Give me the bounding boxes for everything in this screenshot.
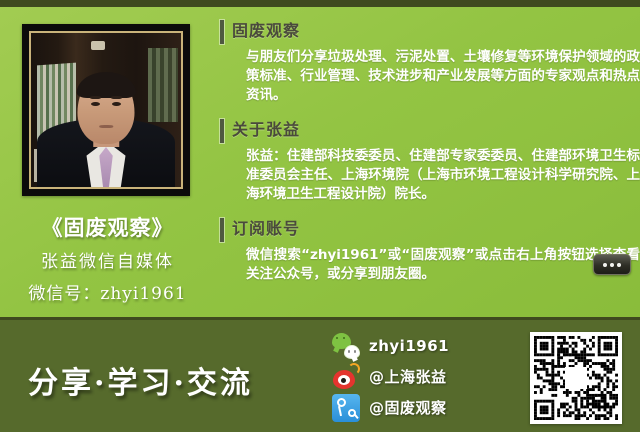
section-subscribe: 订阅账号 微信搜索“zhyi1961”或“固废观察”或点击右上角按钮选择查看关注… [218,219,640,284]
section-heading: 关于张益 [218,120,640,140]
section-heading: 订阅账号 [218,219,640,239]
dot-icon [617,263,621,267]
section-heading-text: 关于张益 [232,120,300,139]
wechat-qr-code[interactable] [530,332,622,424]
slogan-text: 分享·学习·交流 [28,358,253,402]
poster-root: 《固废观察》 张益微信自媒体 微信号：zhyi1961 固废观察 与朋友们分享垃… [0,0,640,432]
brand-wechat-id: 微信号：zhyi1961 [0,279,215,304]
person-eyebrow-left [90,96,101,98]
brand-subtitle: 张益微信自媒体 [0,247,215,272]
social-accounts-list: zhyi1961 @上海张益 @固废观察 [332,330,502,423]
section-body-text: 与朋友们分享垃圾处理、污泥处置、土壤修复等环境保护领域的政策标准、行业管理、技术… [218,48,640,105]
section-heading: 固废观察 [218,21,640,41]
section-guhuaguancha: 固废观察 与朋友们分享垃圾处理、污泥处置、土壤修复等环境保护领域的政策标准、行业… [218,21,640,105]
section-heading-text: 固废观察 [232,21,300,40]
dot-icon [603,263,607,267]
section-heading-text: 订阅账号 [232,219,300,238]
section-body-text: 微信搜索“zhyi1961”或“固废观察”或点击右上角按钮选择查看关注公众号，或… [218,246,640,284]
brand-title: 《固废观察》 [0,212,215,242]
top-divider [0,0,640,7]
social-label: @上海张益 [369,366,447,387]
bottom-bar: 分享·学习·交流 zhyi1961 @上海张益 [0,317,640,432]
ceiling-light [91,41,105,50]
section-marker-bar [220,218,224,242]
bookshelf-right [148,48,178,122]
portrait-photo [29,31,183,189]
social-label: zhyi1961 [369,337,449,355]
section-marker-bar [220,20,224,44]
section-body-text: 张益：住建部科技委委员、住建部专家委委员、住建部环境卫生标准委员会主任、上海环境… [218,147,640,204]
social-label: @固废观察 [369,397,447,418]
right-column: 固废观察 与朋友们分享垃圾处理、污泥处置、土壤修复等环境保护领域的政策标准、行业… [218,7,640,317]
wechat-icon [332,332,360,360]
section-marker-bar [220,119,224,143]
more-options-button[interactable] [593,254,631,275]
portrait-frame [22,24,190,196]
social-row-weibo[interactable]: @上海张益 [332,361,502,392]
left-column: 《固废观察》 张益微信自媒体 微信号：zhyi1961 [0,7,215,317]
social-row-wechat[interactable]: zhyi1961 [332,330,502,361]
section-about-zhangyi: 关于张益 张益：住建部科技委委员、住建部专家委委员、住建部环境卫生标准委员会主任… [218,120,640,204]
person-eyebrow-right [111,96,122,98]
qr-center-logo [565,367,587,389]
weibo-icon [332,363,360,391]
dot-icon [610,263,614,267]
tencent-weibo-icon [332,394,360,422]
social-row-tencent-weibo[interactable]: @固废观察 [332,392,502,423]
